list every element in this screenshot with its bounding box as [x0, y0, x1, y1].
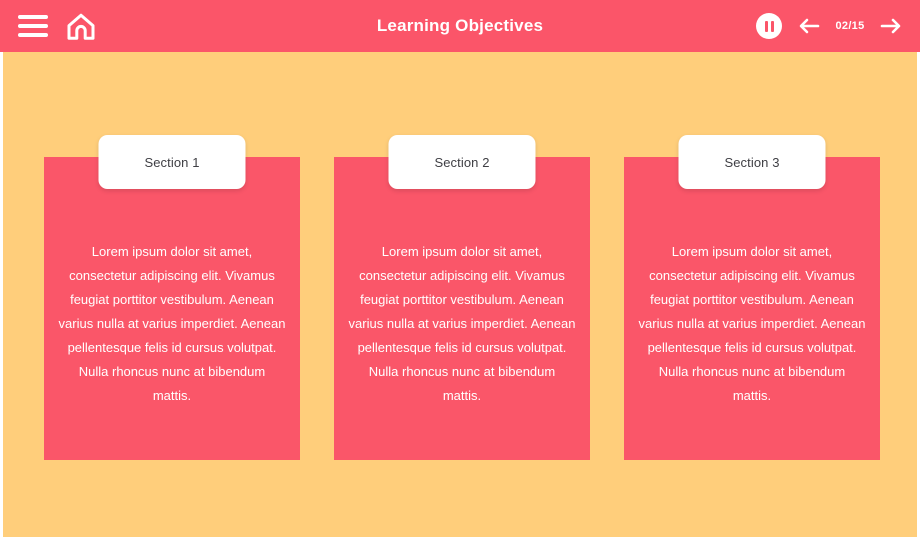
hamburger-bar	[18, 24, 48, 28]
section-card-body: Lorem ipsum dolor sit amet, consectetur …	[334, 157, 590, 460]
hamburger-bar	[18, 15, 48, 19]
elearning-slide: Learning Objectives 02/15 Lorem ipsum do…	[0, 0, 920, 540]
arrow-right-icon[interactable]	[880, 16, 904, 36]
hamburger-menu-icon[interactable]	[18, 15, 48, 37]
pause-bar	[771, 21, 774, 32]
section-card: Lorem ipsum dolor sit amet, consectetur …	[44, 135, 300, 460]
section-card-text: Lorem ipsum dolor sit amet, consectetur …	[348, 240, 576, 408]
section-card-text: Lorem ipsum dolor sit amet, consectetur …	[58, 240, 286, 408]
home-icon[interactable]	[66, 12, 96, 40]
page-counter: 02/15	[834, 20, 866, 32]
section-card-body: Lorem ipsum dolor sit amet, consectetur …	[44, 157, 300, 460]
top-navigation-bar: Learning Objectives 02/15	[0, 0, 920, 52]
header-right-controls: 02/15	[756, 0, 904, 52]
section-card: Lorem ipsum dolor sit amet, consectetur …	[624, 135, 880, 460]
pause-icon[interactable]	[756, 13, 782, 39]
section-card-body: Lorem ipsum dolor sit amet, consectetur …	[624, 157, 880, 460]
hamburger-bar	[18, 33, 48, 37]
section-cards-container: Lorem ipsum dolor sit amet, consectetur …	[44, 135, 880, 460]
section-card-tab-3[interactable]: Section 3	[679, 135, 826, 189]
arrow-left-icon[interactable]	[796, 16, 820, 36]
section-card-tab-label: Section 1	[144, 155, 199, 170]
section-card-tab-label: Section 2	[434, 155, 489, 170]
section-card: Lorem ipsum dolor sit amet, consectetur …	[334, 135, 590, 460]
section-card-text: Lorem ipsum dolor sit amet, consectetur …	[638, 240, 866, 408]
slide-stage: Lorem ipsum dolor sit amet, consectetur …	[3, 52, 917, 537]
section-card-tab-label: Section 3	[724, 155, 779, 170]
pause-bar	[765, 21, 768, 32]
header-left-controls	[18, 0, 96, 52]
section-card-tab-2[interactable]: Section 2	[389, 135, 536, 189]
section-card-tab-1[interactable]: Section 1	[99, 135, 246, 189]
